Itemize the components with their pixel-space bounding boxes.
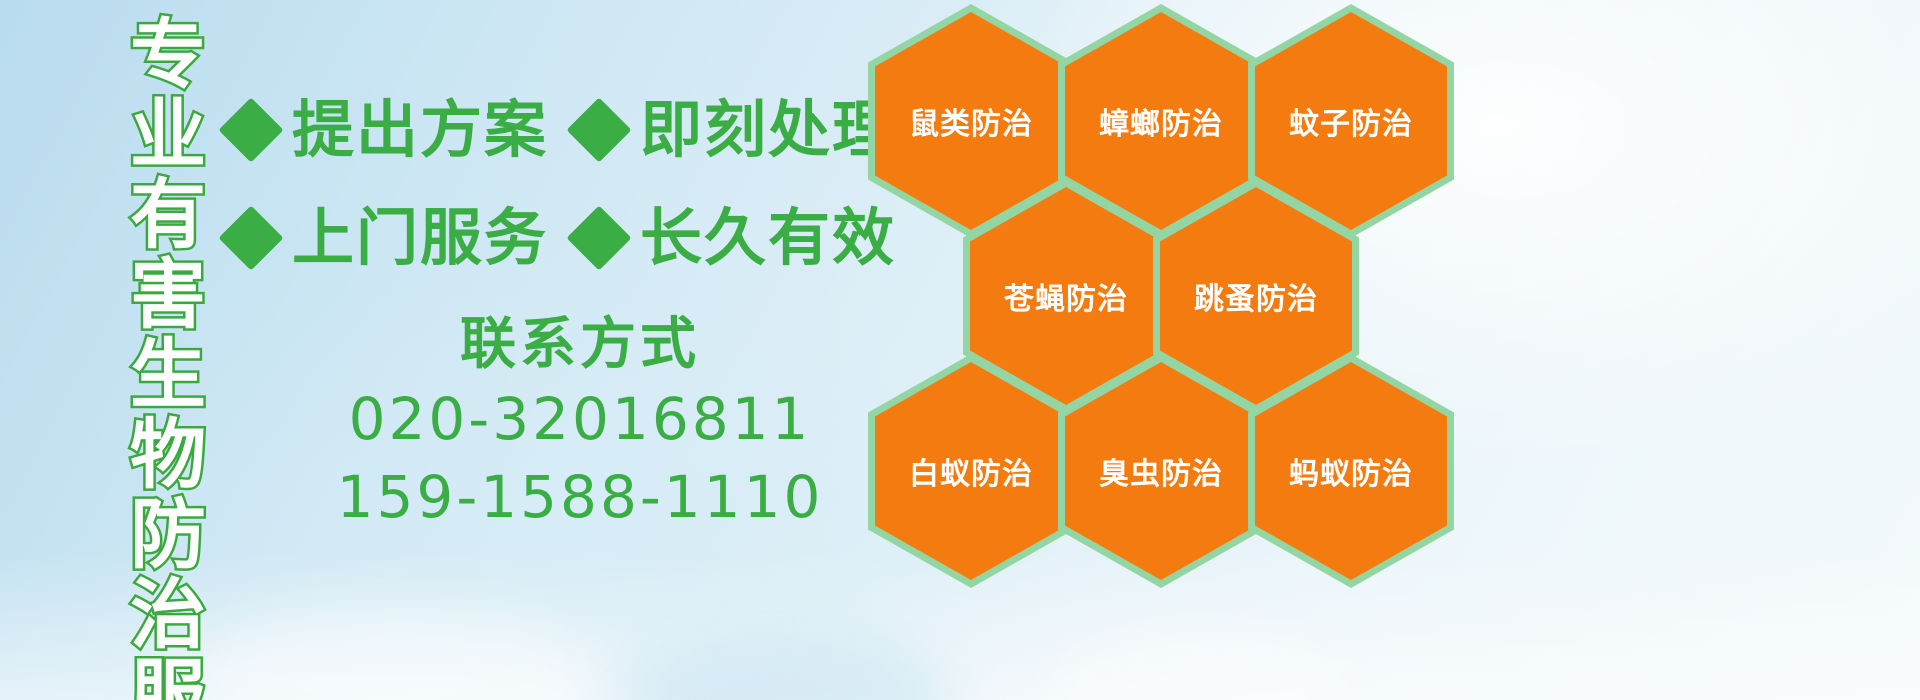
hex-label: 苍蝇防治 xyxy=(1004,274,1128,318)
feature-item: 上门服务 xyxy=(228,207,548,269)
contact-title: 联系方式 xyxy=(300,310,860,380)
hex-label: 跳蚤防治 xyxy=(1194,274,1318,318)
background-blob-left xyxy=(180,610,600,700)
contact-block: 联系方式 020-32016811 159-1588-1110 xyxy=(300,310,860,537)
feature-row: 提出方案 即刻处理 xyxy=(228,76,868,184)
phone-number-landline[interactable]: 020-32016811 xyxy=(300,380,860,458)
hex-inner: 蚂蚁防治 xyxy=(1255,362,1447,580)
hex-label: 蚂蚁防治 xyxy=(1289,449,1413,493)
hex-label: 蚊子防治 xyxy=(1289,99,1413,143)
feature-item: 提出方案 xyxy=(228,99,548,161)
hex-label: 鼠类防治 xyxy=(909,99,1033,143)
phone-number-mobile[interactable]: 159-1588-1110 xyxy=(300,458,860,536)
feature-item: 长久有效 xyxy=(576,207,896,269)
diamond-bullet-icon xyxy=(218,97,283,162)
pest-control-banner: 专业有害生物防治服务 提出方案 即刻处理 上门服务 长久有效 联系方式 0 xyxy=(0,0,1920,700)
vertical-title: 专业有害生物防治服务 xyxy=(104,14,200,700)
feature-label: 即刻处理 xyxy=(640,99,896,161)
hex-inner: 臭虫防治 xyxy=(1065,362,1257,580)
feature-label: 提出方案 xyxy=(292,99,548,161)
diamond-bullet-icon xyxy=(566,97,631,162)
hex-label: 臭虫防治 xyxy=(1099,449,1223,493)
diamond-bullet-icon xyxy=(566,205,631,270)
feature-list: 提出方案 即刻处理 上门服务 长久有效 xyxy=(228,76,868,292)
hex-inner: 白蚁防治 xyxy=(875,362,1067,580)
feature-row: 上门服务 长久有效 xyxy=(228,184,868,292)
hex-label: 白蚁防治 xyxy=(909,449,1033,493)
feature-item: 即刻处理 xyxy=(576,99,896,161)
feature-label: 长久有效 xyxy=(640,207,896,269)
diamond-bullet-icon xyxy=(218,205,283,270)
service-honeycomb: 鼠类防治 蟑螂防治 蚊子防治 苍蝇防治 跳蚤防治 白蚁防治 xyxy=(862,0,1462,700)
hex-label: 蟑螂防治 xyxy=(1099,99,1223,143)
feature-label: 上门服务 xyxy=(292,207,548,269)
